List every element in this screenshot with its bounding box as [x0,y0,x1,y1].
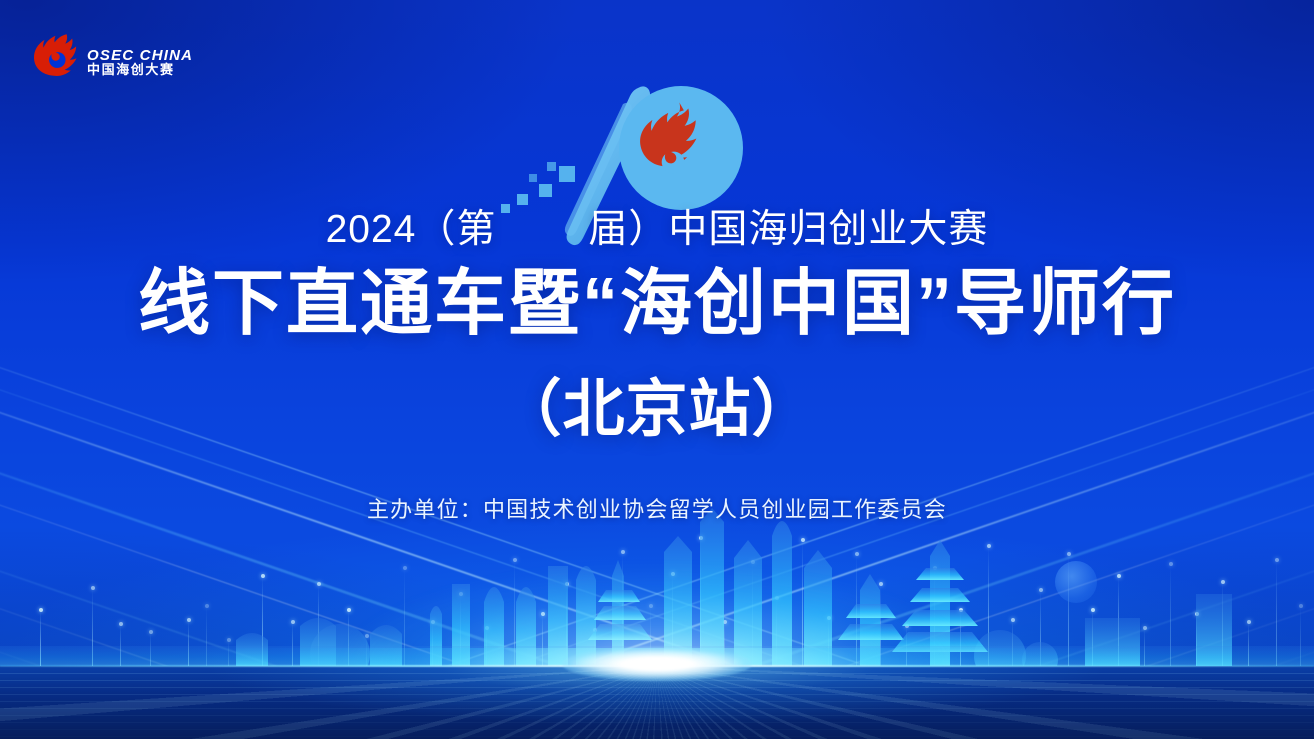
subtitle-prefix: 2024（第 [326,208,497,251]
organizer-line: 主办单位：中国技术创业协会留学人员创业园工作委员会 [0,492,1314,524]
conference-banner: OSEC CHINA 中国海创大赛 [0,0,1314,739]
event-headline-line2: （北京站） [0,358,1314,448]
center-light-burst [562,647,752,681]
flame-icon [33,32,81,82]
event-subtitle: 2024（第届）中国海归创业大赛 [0,198,1314,254]
event-headline-line1: 线下直通车暨“海创中国”导师行 [0,266,1314,342]
logo-chinese-text: 中国海创大赛 [87,63,193,78]
osec-china-logo: OSEC CHINA 中国海创大赛 [33,28,173,86]
logo-english-text: OSEC CHINA [87,48,193,63]
subtitle-suffix: 届）中国海归创业大赛 [588,208,988,251]
